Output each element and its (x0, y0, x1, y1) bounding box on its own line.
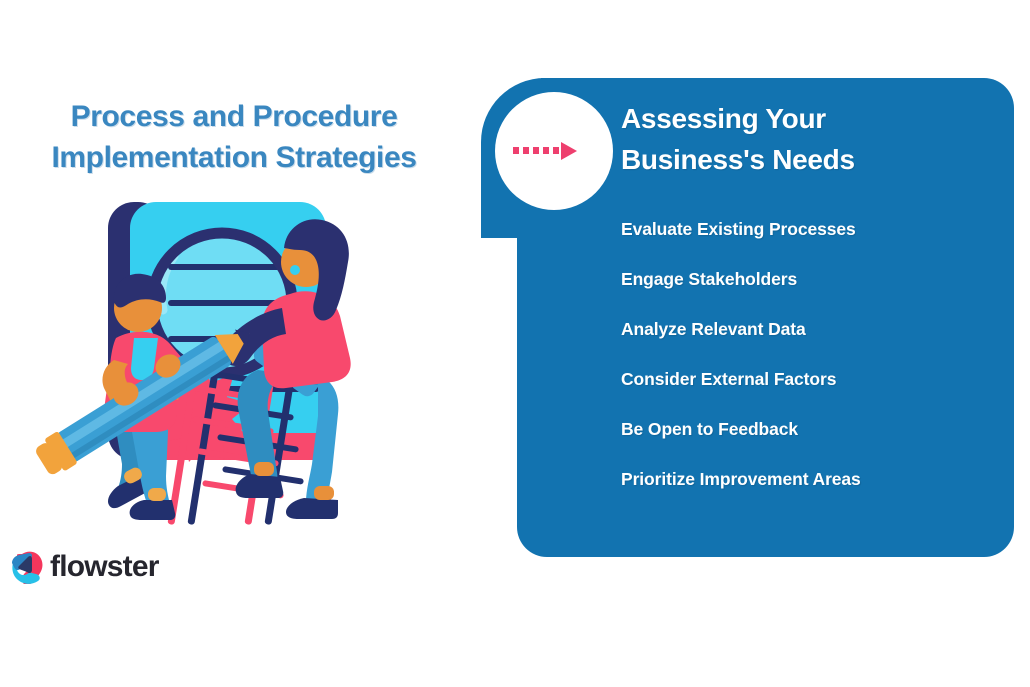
panel-heading-line-2: Business's Needs (621, 139, 991, 180)
page-title-line-1: Process and Procedure (24, 96, 444, 137)
flowster-swoosh-logo-icon (8, 548, 44, 584)
assessing-needs-panel: Assessing Your Business's Needs Evaluate… (481, 74, 1014, 557)
flowster-logo: flowster (8, 546, 188, 588)
list-item: Be Open to Feedback (621, 418, 1001, 468)
list-item: Consider External Factors (621, 368, 1001, 418)
panel-heading: Assessing Your Business's Needs (621, 98, 991, 180)
logo-wordmark: flowster (50, 549, 159, 585)
list-item: Prioritize Improvement Areas (621, 468, 1001, 518)
panel-heading-line-1: Assessing Your (621, 98, 991, 139)
list-item: Evaluate Existing Processes (621, 218, 1001, 268)
page-title-line-2: Implementation Strategies (24, 137, 444, 178)
list-item: Engage Stakeholders (621, 268, 1001, 318)
assessment-steps-list: Evaluate Existing Processes Engage Stake… (621, 218, 1001, 518)
list-item: Analyze Relevant Data (621, 318, 1001, 368)
people-reviewing-document-illustration (18, 198, 438, 528)
dashed-arrow-right-icon (513, 140, 579, 162)
page-title: Process and Procedure Implementation Str… (24, 96, 444, 179)
infographic-canvas: Process and Procedure Implementation Str… (0, 0, 1030, 687)
